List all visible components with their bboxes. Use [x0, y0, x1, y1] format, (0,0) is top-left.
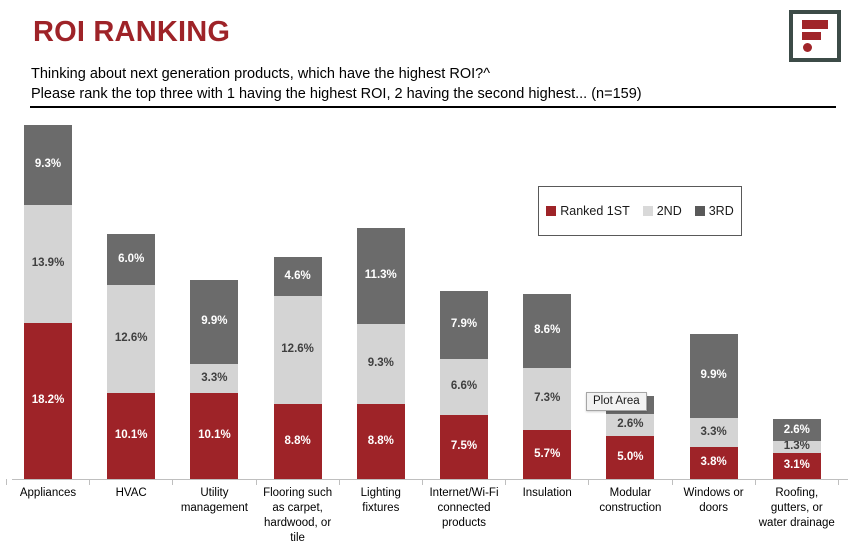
category-axis-label: Utility management — [174, 486, 254, 516]
bar-segment[interactable]: 11.3% — [357, 228, 405, 325]
bar-segment[interactable]: 2.6% — [773, 419, 821, 441]
bar-segment[interactable]: 3.3% — [690, 418, 738, 446]
category-axis-label: HVAC — [91, 486, 171, 501]
bar-segment[interactable]: 7.5% — [440, 415, 488, 479]
axis-tick — [505, 479, 506, 485]
bar-group[interactable]: 8.8%9.3%11.3% — [342, 120, 420, 479]
bar-stack[interactable]: 5.7%7.3%8.6% — [523, 294, 571, 479]
header-divider — [30, 106, 836, 108]
axis-tick — [755, 479, 756, 485]
bar-group[interactable]: 3.1%1.3%2.6% — [758, 120, 836, 479]
bar-segment-value-label: 8.6% — [534, 325, 560, 337]
subtitle-block: Thinking about next generation products,… — [31, 64, 831, 104]
bar-segment-value-label: 10.1% — [198, 430, 231, 442]
bar-segment[interactable]: 9.9% — [690, 334, 738, 419]
axis-tick — [422, 479, 423, 485]
bar-segment[interactable]: 3.8% — [690, 447, 738, 479]
bar-segment-value-label: 7.9% — [451, 319, 477, 331]
bar-stack[interactable]: 7.5%6.6%7.9% — [440, 291, 488, 479]
category-axis-line — [12, 479, 848, 480]
stacked-bar-chart[interactable]: 18.2%13.9%9.3%10.1%12.6%6.0%10.1%3.3%9.9… — [0, 120, 860, 556]
legend-swatch-rank2-icon — [643, 206, 653, 216]
bar-segment[interactable]: 5.0% — [606, 436, 654, 479]
bar-segment[interactable]: 6.0% — [107, 234, 155, 285]
legend-label-rank3: 3RD — [709, 204, 734, 218]
bar-segment-value-label: 7.3% — [534, 393, 560, 405]
bar-segment[interactable]: 6.6% — [440, 359, 488, 415]
bar-segment[interactable]: 8.8% — [357, 404, 405, 479]
legend-item-rank1[interactable]: Ranked 1ST — [546, 204, 629, 218]
bar-segment[interactable]: 5.7% — [523, 430, 571, 479]
subtitle-line-2: Please rank the top three with 1 having … — [31, 84, 831, 104]
bar-segment-value-label: 9.3% — [35, 159, 61, 171]
bar-segment[interactable]: 10.1% — [190, 393, 238, 479]
chart-legend[interactable]: Ranked 1ST 2ND 3RD — [538, 186, 742, 236]
category-axis-label: Lighting fixtures — [341, 486, 421, 516]
bar-segment[interactable]: 18.2% — [24, 323, 72, 479]
bar-stack[interactable]: 8.8%12.6%4.6% — [274, 257, 322, 479]
bar-segment-value-label: 8.8% — [284, 436, 310, 448]
bar-segment-value-label: 5.7% — [534, 449, 560, 461]
bar-segment-value-label: 12.6% — [281, 344, 314, 356]
page-title: ROI RANKING — [33, 16, 230, 49]
bar-segment-value-label: 3.3% — [201, 373, 227, 385]
bar-segment[interactable]: 7.9% — [440, 291, 488, 359]
bar-group[interactable]: 3.8%3.3%9.9% — [675, 120, 753, 479]
bar-group[interactable]: 5.7%7.3%8.6% — [508, 120, 586, 479]
bar-segment-value-label: 10.1% — [115, 430, 148, 442]
bar-segment-value-label: 6.6% — [451, 381, 477, 393]
plot-area-tooltip: Plot Area — [586, 392, 647, 411]
f-mark-logo-icon — [789, 10, 841, 62]
bar-segment-value-label: 9.3% — [368, 358, 394, 370]
bar-segment-value-label: 3.1% — [784, 460, 810, 472]
bar-segment-value-label: 6.0% — [118, 254, 144, 266]
category-axis-label: Flooring such as carpet, hardwood, or ti… — [258, 486, 338, 546]
bar-stack[interactable]: 8.8%9.3%11.3% — [357, 228, 405, 479]
category-axis-label: Modular construction — [590, 486, 670, 516]
bar-segment-value-label: 1.3% — [784, 441, 810, 453]
bar-segment-value-label: 8.8% — [368, 436, 394, 448]
bar-segment-value-label: 12.6% — [115, 333, 148, 345]
axis-tick — [6, 479, 7, 485]
bar-segment-value-label: 2.6% — [617, 419, 643, 431]
bar-segment-value-label: 13.9% — [32, 258, 65, 270]
bar-segment[interactable]: 8.8% — [274, 404, 322, 479]
logo-dot — [803, 43, 812, 52]
logo-inner — [793, 14, 837, 58]
bar-group[interactable]: 7.5%6.6%7.9% — [425, 120, 503, 479]
bar-group[interactable]: 10.1%12.6%6.0% — [92, 120, 170, 479]
plot-area[interactable]: 18.2%13.9%9.3%10.1%12.6%6.0%10.1%3.3%9.9… — [0, 120, 860, 479]
bar-stack[interactable]: 3.1%1.3%2.6% — [773, 419, 821, 479]
bar-stack[interactable]: 10.1%12.6%6.0% — [107, 234, 155, 479]
bar-segment[interactable]: 4.6% — [274, 257, 322, 296]
bar-segment[interactable]: 12.6% — [274, 296, 322, 404]
legend-item-rank2[interactable]: 2ND — [643, 204, 682, 218]
legend-label-rank1: Ranked 1ST — [560, 204, 629, 218]
category-axis-label: Windows or doors — [674, 486, 754, 516]
category-axis-label: Internet/Wi-Fi connected products — [424, 486, 504, 531]
axis-tick — [672, 479, 673, 485]
bar-segment-value-label: 5.0% — [617, 452, 643, 464]
bar-segment[interactable]: 1.3% — [773, 441, 821, 452]
axis-tick — [256, 479, 257, 485]
bar-segment[interactable]: 3.1% — [773, 453, 821, 479]
bar-segment[interactable]: 3.3% — [190, 364, 238, 392]
bar-segment[interactable]: 9.9% — [190, 280, 238, 365]
category-axis-label: Roofing, gutters, or water drainage — [757, 486, 837, 531]
logo-bar-middle — [802, 32, 821, 40]
bar-stack[interactable]: 10.1%3.3%9.9% — [190, 280, 238, 479]
bar-segment-value-label: 3.3% — [700, 427, 726, 439]
bar-segment-value-label: 9.9% — [201, 316, 227, 328]
axis-tick — [588, 479, 589, 485]
legend-swatch-rank3-icon — [695, 206, 705, 216]
category-axis-label: Appliances — [8, 486, 88, 501]
logo-bar-top — [802, 20, 828, 29]
bar-segment-value-label: 3.8% — [700, 457, 726, 469]
bar-group[interactable]: 8.8%12.6%4.6% — [259, 120, 337, 479]
axis-tick — [172, 479, 173, 485]
category-axis-label: Insulation — [507, 486, 587, 501]
legend-item-rank3[interactable]: 3RD — [695, 204, 734, 218]
axis-tick — [89, 479, 90, 485]
axis-tick — [838, 479, 839, 485]
bar-group[interactable]: 18.2%13.9%9.3% — [9, 120, 87, 479]
bar-segment[interactable]: 10.1% — [107, 393, 155, 479]
bar-segment[interactable]: 9.3% — [24, 125, 72, 204]
bar-segment-value-label: 4.6% — [284, 271, 310, 283]
bar-segment-value-label: 7.5% — [451, 441, 477, 453]
bar-segment[interactable]: 12.6% — [107, 285, 155, 393]
bar-segment[interactable]: 8.6% — [523, 294, 571, 368]
bar-segment-value-label: 9.9% — [700, 370, 726, 382]
legend-label-rank2: 2ND — [657, 204, 682, 218]
bar-segment[interactable]: 13.9% — [24, 205, 72, 324]
bar-group[interactable]: 10.1%3.3%9.9% — [175, 120, 253, 479]
bar-group[interactable]: 5.0%2.6% — [591, 120, 669, 479]
subtitle-line-1: Thinking about next generation products,… — [31, 64, 831, 84]
axis-tick — [339, 479, 340, 485]
bar-segment-value-label: 2.6% — [784, 425, 810, 437]
bar-segment-value-label: 11.3% — [365, 270, 397, 282]
bar-stack[interactable]: 18.2%13.9%9.3% — [24, 125, 72, 479]
legend-swatch-rank1-icon — [546, 206, 556, 216]
bar-segment[interactable]: 7.3% — [523, 368, 571, 430]
bar-segment-value-label: 18.2% — [32, 395, 65, 407]
bar-segment[interactable]: 9.3% — [357, 324, 405, 403]
bar-segment[interactable]: 2.6% — [606, 414, 654, 436]
bar-stack[interactable]: 3.8%3.3%9.9% — [690, 334, 738, 479]
